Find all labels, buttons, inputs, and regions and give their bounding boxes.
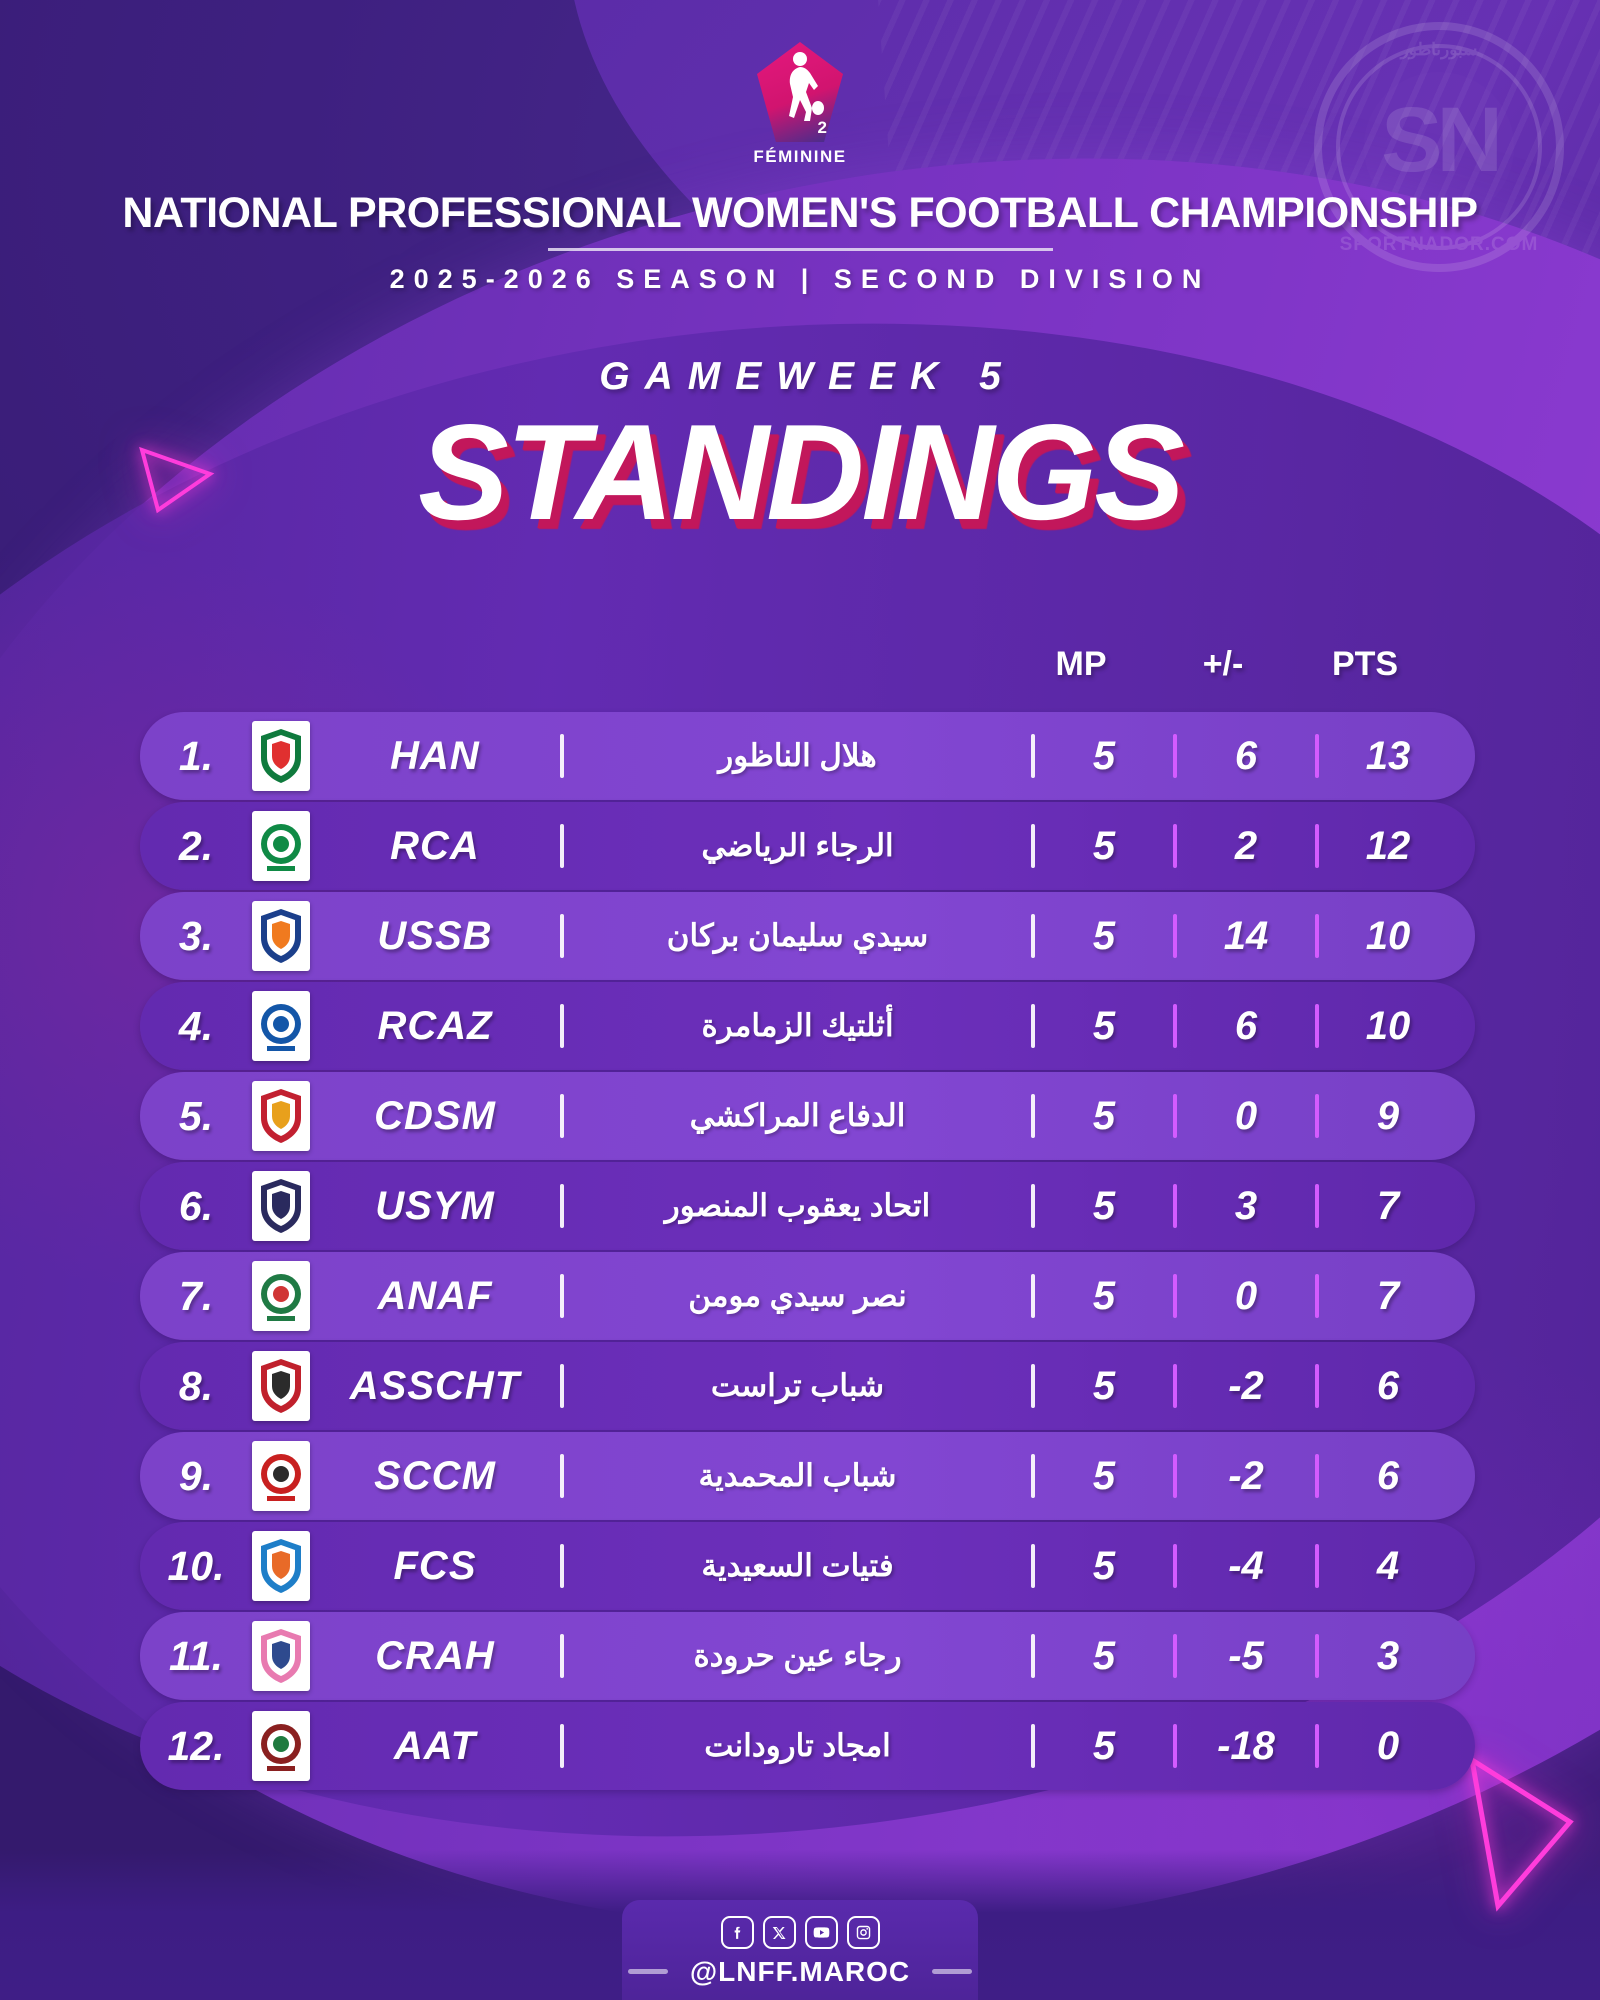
social-handle: @LNFF.MAROC: [622, 1956, 978, 1988]
standings-table: 1.HANهلال الناظور56132.RCAالرجاء الرياضي…: [140, 712, 1475, 1792]
club-crest-icon: [252, 721, 310, 791]
club-crest-icon: [252, 1171, 310, 1241]
row-rank: 8.: [140, 1363, 252, 1410]
table-row: 12.AATامجاد تارودانت5-180: [140, 1702, 1475, 1790]
row-matches-played: 5: [1035, 1544, 1173, 1589]
club-abbreviation: SCCM: [310, 1454, 560, 1499]
row-rank: 6.: [140, 1183, 252, 1230]
row-matches-played: 5: [1035, 734, 1173, 779]
club-name-arabic: شباب المحمدية: [564, 1458, 1031, 1494]
row-rank: 12.: [140, 1723, 252, 1770]
club-abbreviation: RCA: [310, 824, 560, 869]
row-goal-difference: 3: [1177, 1184, 1315, 1229]
club-abbreviation: USSB: [310, 914, 560, 959]
poster-header: 2 FÉMININE NATIONAL PROFESSIONAL WOMEN'S…: [0, 0, 1600, 295]
row-goal-difference: 0: [1177, 1274, 1315, 1319]
row-matches-played: 5: [1035, 824, 1173, 869]
club-crest-icon: [252, 991, 310, 1061]
row-matches-played: 5: [1035, 1274, 1173, 1319]
row-points: 9: [1319, 1094, 1457, 1139]
row-points: 4: [1319, 1544, 1457, 1589]
row-goal-difference: -18: [1177, 1724, 1315, 1769]
footer-rule-right: [932, 1969, 972, 1974]
table-row: 4.RCAZأثلتيك الزمامرة5610: [140, 982, 1475, 1070]
row-matches-played: 5: [1035, 1634, 1173, 1679]
row-goal-difference: 6: [1177, 1004, 1315, 1049]
club-abbreviation: USYM: [310, 1184, 560, 1229]
standings-title: STANDINGS: [0, 401, 1600, 544]
female-player-icon: [773, 50, 827, 126]
row-rank: 4.: [140, 1003, 252, 1050]
column-header-pts: PTS: [1294, 645, 1436, 684]
club-crest-icon: [252, 1261, 310, 1331]
facebook-icon[interactable]: [721, 1916, 754, 1949]
club-name-arabic: أثلتيك الزمامرة: [564, 1008, 1031, 1044]
row-rank: 11.: [140, 1633, 252, 1680]
row-matches-played: 5: [1035, 1094, 1173, 1139]
row-matches-played: 5: [1035, 1004, 1173, 1049]
federation-logo-number: 2: [818, 118, 827, 138]
footer-rule-left: [628, 1969, 668, 1974]
club-crest-icon: [252, 811, 310, 881]
club-name-arabic: الدفاع المراكشي: [564, 1098, 1031, 1134]
club-name-arabic: فتيات السعيدية: [564, 1548, 1031, 1584]
row-goal-difference: -2: [1177, 1454, 1315, 1499]
club-abbreviation: ASSCHT: [310, 1364, 560, 1409]
gameweek-label: GAMEWEEK 5: [0, 355, 1600, 399]
club-abbreviation: CRAH: [310, 1634, 560, 1679]
row-matches-played: 5: [1035, 1724, 1173, 1769]
table-row: 9.SCCMشباب المحمدية5-26: [140, 1432, 1475, 1520]
row-matches-played: 5: [1035, 1364, 1173, 1409]
youtube-icon[interactable]: [805, 1916, 838, 1949]
club-abbreviation: HAN: [310, 734, 560, 779]
federation-logo-caption: FÉMININE: [752, 147, 848, 167]
row-points: 3: [1319, 1634, 1457, 1679]
row-points: 13: [1319, 734, 1457, 779]
poster-footer: @LNFF.MAROC: [622, 1900, 978, 2000]
club-name-arabic: سيدي سليمان بركان: [564, 918, 1031, 954]
club-abbreviation: RCAZ: [310, 1004, 560, 1049]
club-name-arabic: نصر سيدي مومن: [564, 1278, 1031, 1314]
row-rank: 5.: [140, 1093, 252, 1140]
row-points: 10: [1319, 1004, 1457, 1049]
row-goal-difference: 2: [1177, 824, 1315, 869]
table-row: 7.ANAFنصر سيدي مومن507: [140, 1252, 1475, 1340]
row-goal-difference: -2: [1177, 1364, 1315, 1409]
row-matches-played: 5: [1035, 914, 1173, 959]
federation-logo: 2 FÉMININE: [752, 42, 848, 167]
column-header-gd: +/-: [1152, 645, 1294, 684]
title-divider: [548, 248, 1053, 251]
club-name-arabic: هلال الناظور: [564, 738, 1031, 774]
row-rank: 2.: [140, 823, 252, 870]
table-row: 8.ASSCHTشباب تراست5-26: [140, 1342, 1475, 1430]
club-name-arabic: امجاد تارودانت: [564, 1728, 1031, 1764]
table-row: 3.USSBسيدي سليمان بركان51410: [140, 892, 1475, 980]
row-points: 6: [1319, 1364, 1457, 1409]
club-crest-icon: [252, 1621, 310, 1691]
row-points: 6: [1319, 1454, 1457, 1499]
club-abbreviation: CDSM: [310, 1094, 560, 1139]
club-abbreviation: ANAF: [310, 1274, 560, 1319]
club-crest-icon: [252, 1531, 310, 1601]
row-goal-difference: -5: [1177, 1634, 1315, 1679]
club-abbreviation: AAT: [310, 1724, 560, 1769]
club-crest-icon: [252, 1441, 310, 1511]
row-matches-played: 5: [1035, 1184, 1173, 1229]
row-matches-played: 5: [1035, 1454, 1173, 1499]
row-goal-difference: 14: [1177, 914, 1315, 959]
row-rank: 1.: [140, 733, 252, 780]
club-crest-icon: [252, 1351, 310, 1421]
club-crest-icon: [252, 901, 310, 971]
row-goal-difference: 6: [1177, 734, 1315, 779]
row-points: 12: [1319, 824, 1457, 869]
club-name-arabic: اتحاد يعقوب المنصور: [564, 1188, 1031, 1224]
row-points: 7: [1319, 1184, 1457, 1229]
x-icon[interactable]: [763, 1916, 796, 1949]
row-goal-difference: 0: [1177, 1094, 1315, 1139]
row-goal-difference: -4: [1177, 1544, 1315, 1589]
poster-canvas: سبورناظور SN SPORTNADOR.COM 2 FÉMININE N…: [0, 0, 1600, 2000]
table-row: 11.CRAHرجاء عين حرودة5-53: [140, 1612, 1475, 1700]
row-points: 0: [1319, 1724, 1457, 1769]
hero-block: GAMEWEEK 5 STANDINGS: [0, 355, 1600, 544]
club-crest-icon: [252, 1081, 310, 1151]
club-crest-icon: [252, 1711, 310, 1781]
table-row: 6.USYMاتحاد يعقوب المنصور537: [140, 1162, 1475, 1250]
social-links: [622, 1916, 978, 1949]
row-rank: 10.: [140, 1543, 252, 1590]
club-name-arabic: شباب تراست: [564, 1368, 1031, 1404]
instagram-icon[interactable]: [847, 1916, 880, 1949]
championship-title: NATIONAL PROFESSIONAL WOMEN'S FOOTBALL C…: [0, 189, 1600, 238]
table-row: 1.HANهلال الناظور5613: [140, 712, 1475, 800]
table-row: 2.RCAالرجاء الرياضي5212: [140, 802, 1475, 890]
table-row: 5.CDSMالدفاع المراكشي509: [140, 1072, 1475, 1160]
club-abbreviation: FCS: [310, 1544, 560, 1589]
row-points: 10: [1319, 914, 1457, 959]
row-rank: 9.: [140, 1453, 252, 1500]
column-header-mp: MP: [1010, 645, 1152, 684]
club-name-arabic: رجاء عين حرودة: [564, 1638, 1031, 1674]
row-rank: 3.: [140, 913, 252, 960]
row-rank: 7.: [140, 1273, 252, 1320]
table-column-headers: MP +/- PTS: [0, 645, 1600, 684]
table-row: 10.FCSفتيات السعيدية5-44: [140, 1522, 1475, 1610]
row-points: 7: [1319, 1274, 1457, 1319]
season-division-line: 2025-2026 SEASON | SECOND DIVISION: [0, 264, 1600, 295]
club-name-arabic: الرجاء الرياضي: [564, 828, 1031, 864]
